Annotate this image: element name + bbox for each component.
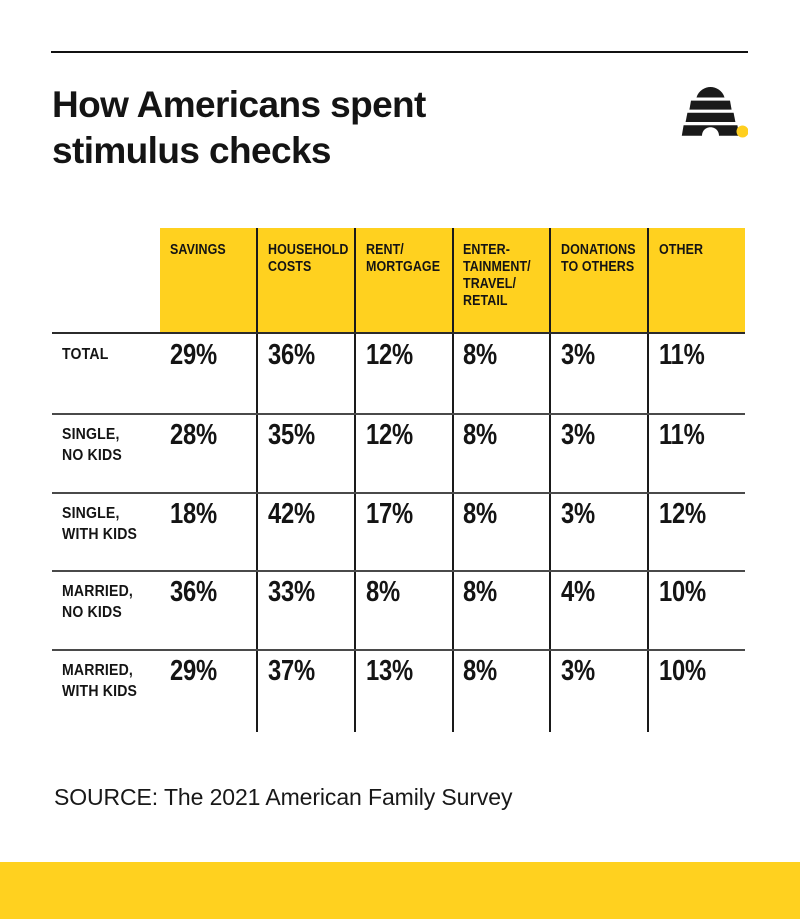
- cell-single-no-kids-entertainment: 8%: [463, 420, 537, 450]
- cell-single-with-kids-savings: 18%: [170, 499, 244, 529]
- column-divider-1: [256, 228, 258, 732]
- logo-dot: [737, 126, 749, 138]
- cell-single-no-kids-savings: 28%: [170, 420, 244, 450]
- cell-married-no-kids-savings: 36%: [170, 577, 244, 607]
- row-divider-1: [52, 413, 745, 415]
- cell-total-entertainment: 8%: [463, 340, 537, 370]
- row-label-single-no-kids: SINGLE, NO KIDS: [62, 424, 168, 466]
- cell-single-with-kids-household-costs: 42%: [268, 499, 342, 529]
- cell-single-with-kids-other: 12%: [659, 499, 733, 529]
- cell-married-with-kids-rent-mortgage: 13%: [366, 656, 440, 686]
- source-caption: SOURCE: The 2021 American Family Survey: [54, 783, 512, 811]
- row-divider-4: [52, 649, 745, 651]
- bottom-accent-bar: [0, 862, 800, 919]
- beehive-logo: [672, 86, 748, 140]
- column-header-other: OTHER: [659, 242, 733, 259]
- row-label-total: TOTAL: [62, 344, 168, 365]
- top-divider-rule: [51, 51, 748, 53]
- cell-total-savings: 29%: [170, 340, 244, 370]
- row-label-single-with-kids: SINGLE, WITH KIDS: [62, 503, 168, 545]
- cell-married-with-kids-household-costs: 37%: [268, 656, 342, 686]
- cell-married-no-kids-household-costs: 33%: [268, 577, 342, 607]
- row-label-married-with-kids: MARRIED, WITH KIDS: [62, 660, 168, 702]
- page-title: How Americans spent stimulus checks: [52, 82, 522, 174]
- cell-total-other: 11%: [659, 340, 733, 370]
- stimulus-spending-table: SAVINGS HOUSEHOLD COSTS RENT/ MORTGAGE E…: [52, 228, 745, 732]
- cell-single-no-kids-household-costs: 35%: [268, 420, 342, 450]
- cell-single-with-kids-rent-mortgage: 17%: [366, 499, 440, 529]
- column-divider-2: [354, 228, 356, 732]
- cell-single-no-kids-other: 11%: [659, 420, 733, 450]
- column-header-savings: SAVINGS: [170, 242, 244, 259]
- cell-married-with-kids-donations: 3%: [561, 656, 635, 686]
- cell-total-rent-mortgage: 12%: [366, 340, 440, 370]
- beehive-icon: [672, 86, 748, 140]
- cell-married-no-kids-rent-mortgage: 8%: [366, 577, 440, 607]
- infographic-canvas: How Americans spent stimulus checks SAVI…: [0, 0, 800, 919]
- row-divider-2: [52, 492, 745, 494]
- cell-married-no-kids-entertainment: 8%: [463, 577, 537, 607]
- cell-total-household-costs: 36%: [268, 340, 342, 370]
- cell-married-no-kids-donations: 4%: [561, 577, 635, 607]
- cell-single-no-kids-donations: 3%: [561, 420, 635, 450]
- cell-married-no-kids-other: 10%: [659, 577, 733, 607]
- row-divider-header: [52, 332, 745, 334]
- cell-single-with-kids-donations: 3%: [561, 499, 635, 529]
- column-divider-3: [452, 228, 454, 732]
- column-divider-4: [549, 228, 551, 732]
- column-header-household-costs: HOUSEHOLD COSTS: [268, 242, 342, 276]
- column-header-rent-mortgage: RENT/ MORTGAGE: [366, 242, 440, 276]
- column-header-entertainment-travel-retail: ENTER- TAINMENT/ TRAVEL/ RETAIL: [463, 242, 537, 310]
- column-divider-5: [647, 228, 649, 732]
- cell-married-with-kids-savings: 29%: [170, 656, 244, 686]
- column-header-donations-to-others: DONATIONS TO OTHERS: [561, 242, 635, 276]
- row-label-married-no-kids: MARRIED, NO KIDS: [62, 581, 168, 623]
- cell-married-with-kids-entertainment: 8%: [463, 656, 537, 686]
- cell-total-donations: 3%: [561, 340, 635, 370]
- cell-single-no-kids-rent-mortgage: 12%: [366, 420, 440, 450]
- row-divider-3: [52, 570, 745, 572]
- cell-married-with-kids-other: 10%: [659, 656, 733, 686]
- cell-single-with-kids-entertainment: 8%: [463, 499, 537, 529]
